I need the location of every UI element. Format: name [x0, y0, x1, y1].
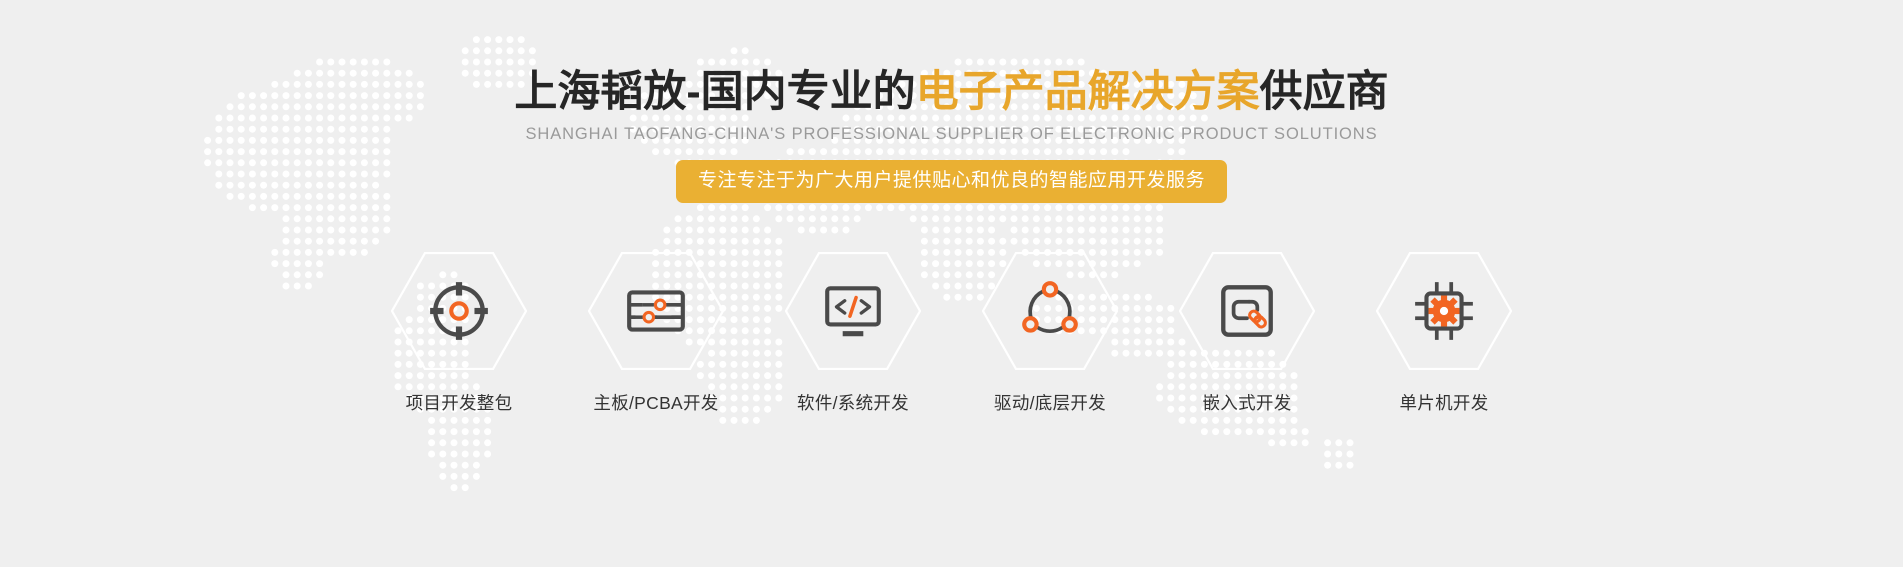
hexagon-frame [982, 252, 1118, 370]
feature-list: 项目开发整包 [361, 252, 1543, 415]
feature-label: 主板/PCBA开发 [593, 390, 718, 415]
page-title: 上海韬放-国内专业的电子产品解决方案供应商 [0, 68, 1903, 116]
page-subtitle-english: SHANGHAI TAOFANG-CHINA'S PROFESSIONAL SU… [0, 125, 1903, 144]
tagline-badge: 专注专注于为广大用户提供贴心和优良的智能应用开发服务 [676, 160, 1227, 203]
headline-block: 上海韬放-国内专业的电子产品解决方案供应商 SHANGHAI TAOFANG-C… [0, 68, 1903, 203]
node-network-icon [1017, 278, 1083, 344]
title-part-three: 供应商 [1260, 68, 1389, 116]
monitor-code-icon [820, 278, 886, 344]
cpu-gear-icon [1411, 278, 1477, 344]
feature-label: 软件/系统开发 [797, 390, 909, 415]
pcb-board-icon [623, 278, 689, 344]
title-highlight: 电子产品解决方案 [916, 68, 1260, 116]
feature-item-software-system[interactable]: 软件/系统开发 [755, 252, 952, 415]
badge-row: 专注专注于为广大用户提供贴心和优良的智能应用开发服务 [0, 160, 1903, 203]
hexagon-frame [785, 252, 921, 370]
hero-banner: 上海韬放-国内专业的电子产品解决方案供应商 SHANGHAI TAOFANG-C… [0, 0, 1903, 567]
hexagon-frame [391, 252, 527, 370]
title-part-one: 上海韬放-国内专业的 [514, 68, 915, 116]
hexagon-frame [1376, 252, 1512, 370]
hexagon-frame [588, 252, 724, 370]
feature-label: 项目开发整包 [406, 390, 513, 415]
feature-label: 单片机开发 [1400, 390, 1489, 415]
crosshair-target-icon [426, 278, 492, 344]
feature-label: 驱动/底层开发 [994, 390, 1106, 415]
feature-item-driver-lowlevel[interactable]: 驱动/底层开发 [952, 252, 1149, 415]
hexagon-frame [1179, 252, 1315, 370]
feature-item-embedded[interactable]: 嵌入式开发 [1149, 252, 1346, 415]
feature-label: 嵌入式开发 [1203, 390, 1292, 415]
chip-link-icon [1214, 278, 1280, 344]
feature-item-project-package[interactable]: 项目开发整包 [361, 252, 558, 415]
feature-item-pcba[interactable]: 主板/PCBA开发 [558, 252, 755, 415]
feature-item-mcu[interactable]: 单片机开发 [1346, 252, 1543, 415]
